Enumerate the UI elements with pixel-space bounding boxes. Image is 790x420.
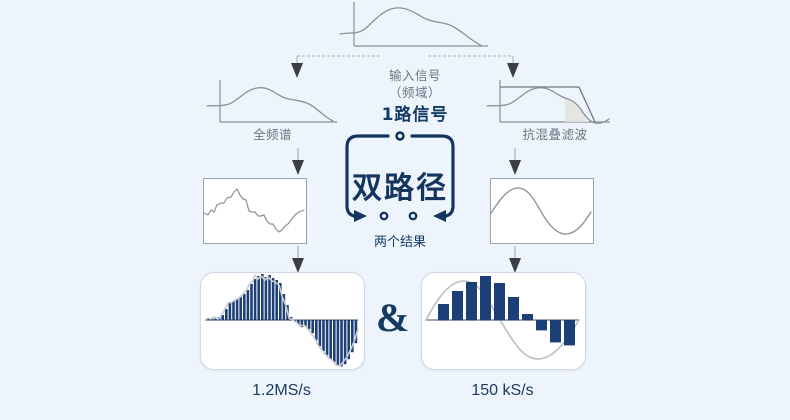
source-label: 1路信号 [345, 100, 485, 125]
arrow-right-branch-1-svg [505, 148, 525, 176]
input-caption-line2: （频域） [345, 82, 485, 101]
bar-series-overlap [480, 320, 491, 354]
full-spectrum-curve [207, 88, 333, 121]
anti-alias-caption: 抗混叠滤波 [480, 124, 630, 143]
arrow-left-branch-2-svg [288, 246, 308, 274]
arrow-down-icon [291, 63, 303, 78]
arrow-left-branch-1-svg [288, 148, 308, 176]
full-spectrum-plot [205, 78, 340, 130]
low-rate-result-panel [421, 272, 586, 370]
arrow-down-icon [509, 258, 521, 273]
split-connector-svg [280, 30, 530, 80]
broadband-trace-svg [204, 179, 304, 241]
low-rate-chart [422, 273, 583, 367]
combine-symbol: & [376, 298, 409, 338]
full-spectrum-svg [205, 78, 340, 130]
arrow-right-icon [354, 210, 367, 222]
arrow-down-icon [292, 160, 304, 175]
hub-subtitle: 两个结果 [340, 231, 460, 250]
high-rate-chart [201, 273, 362, 367]
sine-trace-curve [491, 188, 591, 234]
diagram-canvas: 输入信号 （频域） 1路信号 全频谱 [0, 0, 790, 420]
hub-top-node-icon [397, 133, 404, 140]
arrow-right-branch-1 [505, 148, 525, 176]
arrow-right-branch-2 [505, 246, 525, 274]
bar-series [438, 276, 575, 345]
hub-result-node-left-icon [381, 213, 387, 219]
high-rate-label: 1.2MS/s [200, 382, 363, 400]
arrow-down-icon [292, 258, 304, 273]
low-rate-label: 150 kS/s [421, 382, 584, 400]
split-connector [280, 30, 530, 80]
hub-title: 双路径 [340, 163, 460, 207]
full-spectrum-caption: 全频谱 [205, 124, 340, 143]
arrow-left-branch-2 [288, 246, 308, 274]
hub-result-node-right-icon [410, 213, 416, 219]
sine-trace-box [490, 178, 594, 244]
broadband-trace-curve [204, 189, 304, 232]
sine-trace-svg [491, 179, 591, 241]
anti-alias-plot [485, 78, 620, 130]
arrow-left-icon [433, 210, 446, 222]
arrow-down-icon [507, 63, 519, 78]
high-rate-result-panel [200, 272, 365, 370]
arrow-right-branch-2-svg [505, 246, 525, 274]
rejected-band-shade [565, 99, 588, 122]
anti-alias-svg [485, 78, 620, 130]
broadband-trace-box [203, 178, 307, 244]
arrow-left-branch-1 [288, 148, 308, 176]
anti-alias-curve [487, 88, 609, 124]
arrow-down-icon [509, 160, 521, 175]
